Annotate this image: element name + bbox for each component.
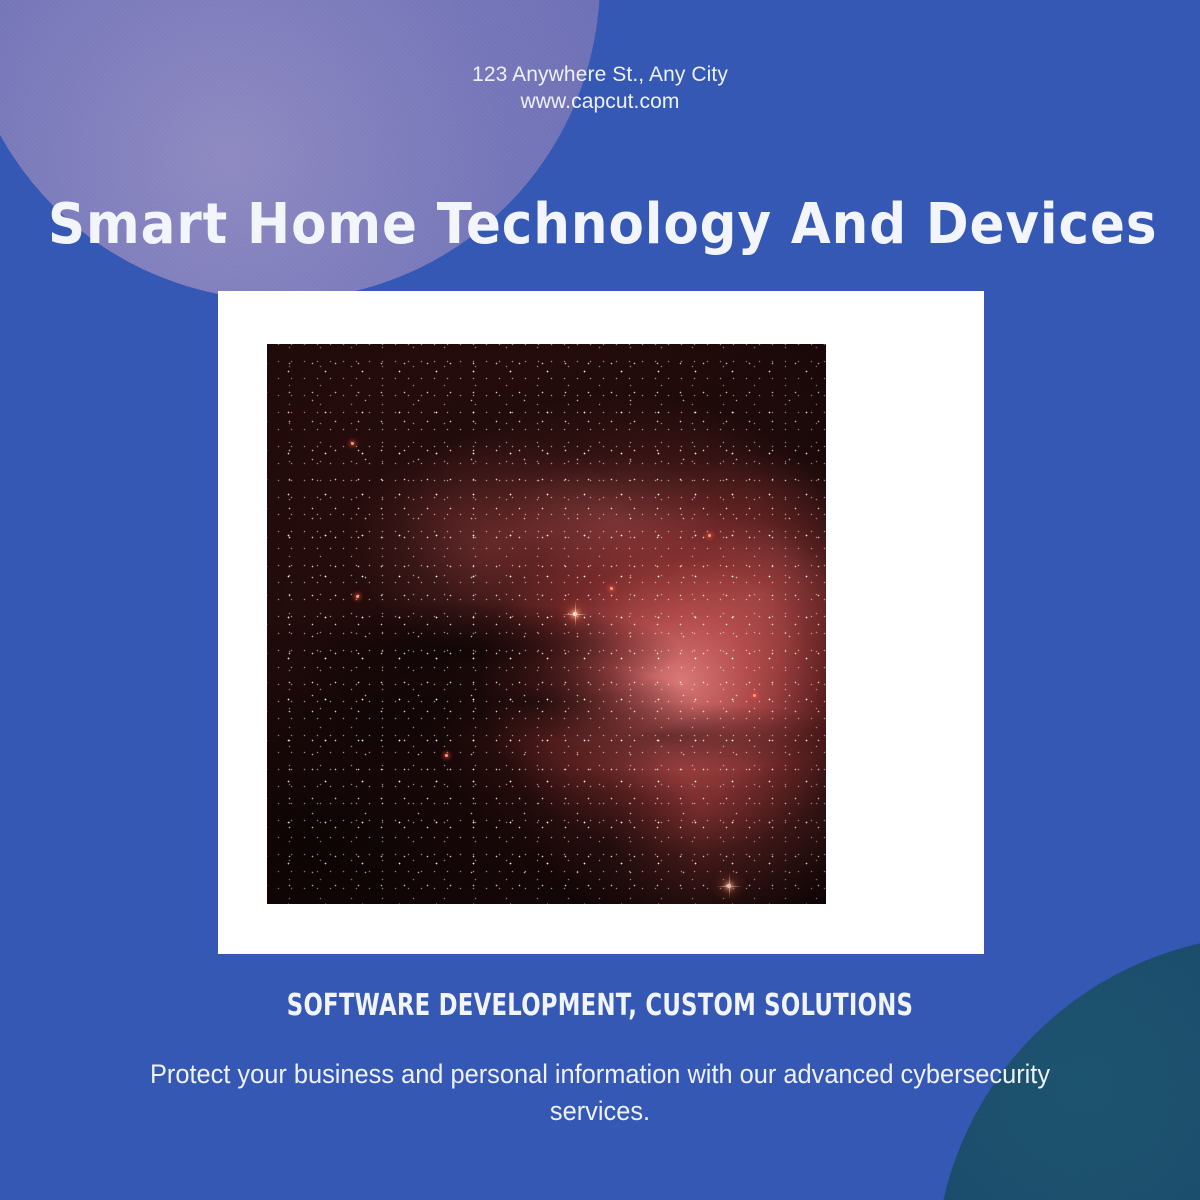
nebula-photo bbox=[267, 344, 826, 904]
photo-vignette bbox=[267, 344, 826, 904]
contact-address: 123 Anywhere St., Any City bbox=[0, 62, 1200, 89]
page-title: Smart Home Technology And Devices bbox=[48, 196, 1152, 255]
contact-website[interactable]: www.capcut.com bbox=[0, 89, 1200, 116]
body-copy: Protect your business and personal infor… bbox=[117, 1056, 1083, 1131]
photo-frame bbox=[218, 291, 984, 954]
contact-block: 123 Anywhere St., Any City www.capcut.co… bbox=[0, 62, 1200, 116]
subheading: SOFTWARE DEVELOPMENT, CUSTOM SOLUTIONS bbox=[144, 988, 1056, 1023]
poster-canvas: 123 Anywhere St., Any City www.capcut.co… bbox=[0, 0, 1200, 1200]
poster-content: 123 Anywhere St., Any City www.capcut.co… bbox=[0, 0, 1200, 1200]
